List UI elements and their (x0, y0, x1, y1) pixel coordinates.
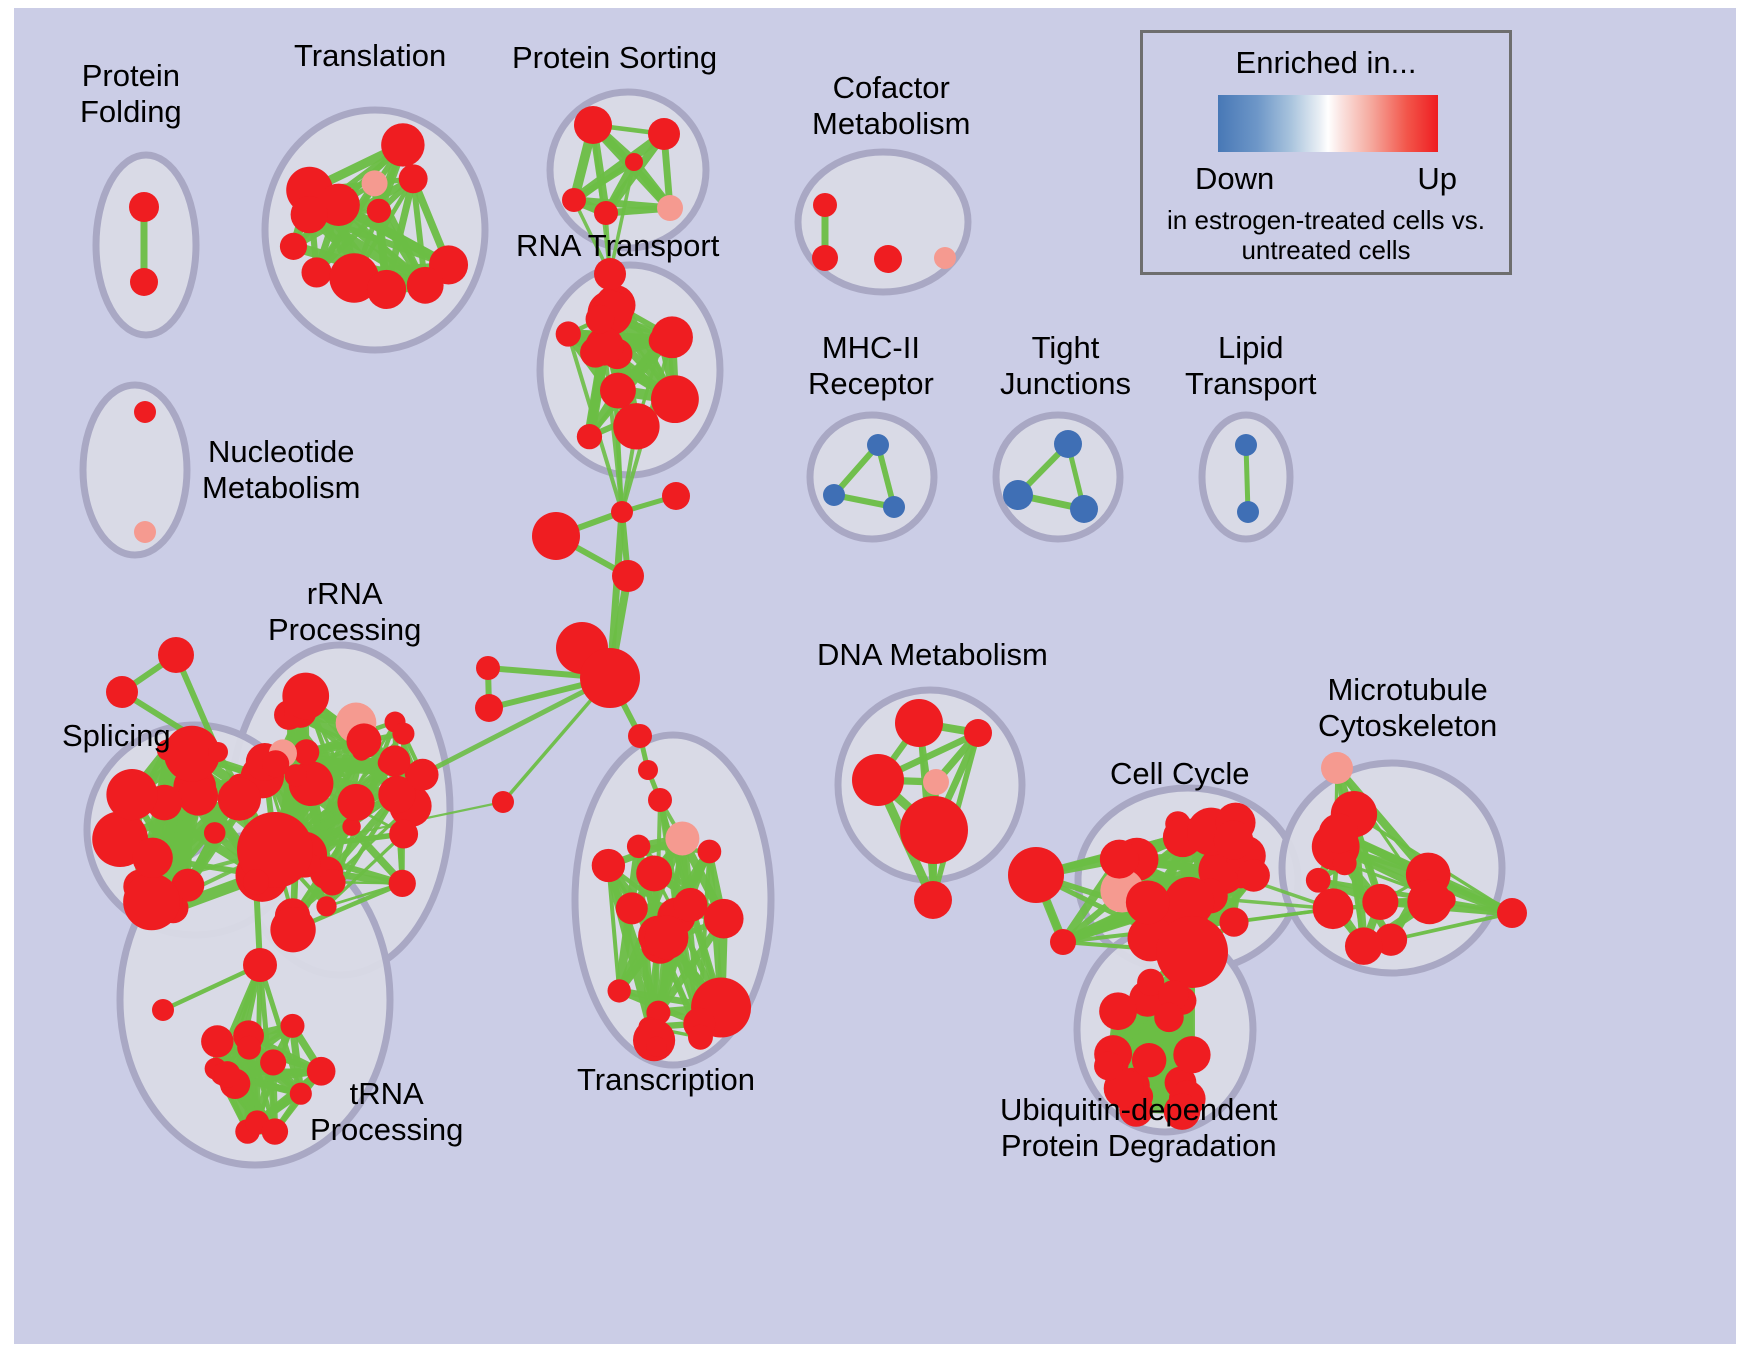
cluster-label-rrna-processing: rRNA Processing (268, 576, 421, 648)
cluster-label-microtubule-cytoskeleton: Microtubule Cytoskeleton (1318, 672, 1497, 744)
network-node (580, 648, 640, 708)
network-node (852, 754, 904, 806)
network-node (627, 835, 650, 858)
network-node (262, 1118, 288, 1144)
network-node (883, 496, 905, 518)
network-node (367, 270, 406, 309)
network-node (1094, 1052, 1123, 1081)
network-node (638, 760, 658, 780)
network-node (290, 1083, 312, 1105)
network-node (562, 188, 586, 212)
network-node (611, 501, 633, 523)
cluster-label-protein-folding: Protein Folding (80, 58, 182, 130)
network-node (1126, 881, 1170, 925)
network-node (293, 739, 319, 765)
network-node (923, 769, 949, 795)
network-node (1235, 434, 1257, 456)
network-node (270, 907, 315, 952)
network-node (214, 1061, 241, 1088)
network-node (1173, 1036, 1210, 1073)
network-node (1237, 501, 1259, 523)
network-node (362, 170, 388, 196)
network-node (130, 268, 158, 296)
network-node (1321, 752, 1353, 784)
network-node (532, 512, 580, 560)
legend-high-label: Up (1417, 161, 1457, 197)
network-node (1070, 495, 1098, 523)
network-node (688, 1025, 713, 1050)
network-node (260, 1049, 286, 1075)
network-node (592, 849, 625, 882)
network-node (648, 788, 672, 812)
network-node (812, 245, 838, 271)
network-node (1497, 898, 1527, 928)
network-node (280, 1014, 304, 1038)
network-node (134, 401, 156, 423)
network-node (134, 521, 156, 543)
network-node (934, 247, 956, 269)
network-node (237, 1036, 261, 1060)
cluster-label-cofactor-metabolism: Cofactor Metabolism (812, 70, 971, 142)
network-node (651, 375, 699, 423)
network-node (1099, 992, 1137, 1030)
legend-box: Enriched in... Down Up in estrogen-treat… (1140, 30, 1512, 275)
network-node (646, 1037, 666, 1057)
network-node (291, 196, 328, 233)
network-node (657, 195, 683, 221)
network-node (895, 699, 943, 747)
network-node (616, 892, 648, 924)
network-node (381, 123, 424, 166)
network-node (1050, 929, 1076, 955)
network-node (704, 899, 744, 939)
network-node (577, 424, 602, 449)
network-node (129, 192, 159, 222)
network-node (1313, 888, 1354, 929)
network-node (1156, 916, 1228, 988)
network-node (1333, 851, 1357, 875)
network-node (613, 403, 659, 449)
network-node (337, 784, 374, 821)
legend-caption: in estrogen-treated cells vs. untreated … (1143, 205, 1509, 265)
network-node (1154, 1003, 1183, 1032)
cluster-label-transcription: Transcription (577, 1062, 755, 1098)
network-node (914, 881, 952, 919)
network-node (585, 327, 624, 366)
network-node (900, 796, 968, 864)
network-node (389, 820, 418, 849)
network-node (1306, 868, 1331, 893)
network-node (389, 870, 416, 897)
network-node (600, 373, 636, 409)
network-node (1362, 884, 1398, 920)
network-node (1054, 430, 1082, 458)
network-node (476, 656, 500, 680)
network-node (651, 316, 693, 358)
network-node (813, 193, 837, 217)
network-node (106, 676, 138, 708)
network-node (280, 233, 307, 260)
cluster-label-ubiquitin-protein-degradation: Ubiquitin-dependent Protein Degradation (1000, 1092, 1278, 1164)
network-node (367, 199, 391, 223)
network-node (665, 821, 699, 855)
network-node (1345, 927, 1382, 964)
cluster-label-lipid-transport: Lipid Transport (1185, 330, 1317, 402)
legend-color-bar (1218, 95, 1438, 152)
cluster-label-rna-transport: RNA Transport (516, 228, 719, 264)
network-node (1100, 840, 1139, 879)
network-node (379, 745, 410, 776)
network-node (1407, 880, 1452, 925)
network-node (282, 673, 329, 720)
network-node (874, 245, 902, 273)
network-node (243, 869, 269, 895)
cluster-label-dna-metabolism: DNA Metabolism (817, 637, 1048, 673)
network-node (636, 855, 672, 891)
network-node (218, 777, 261, 820)
cluster-hull (996, 415, 1120, 539)
network-node (1003, 480, 1033, 510)
network-node (132, 838, 172, 878)
legend-low-label: Down (1195, 161, 1274, 197)
network-node (612, 560, 644, 592)
legend-title: Enriched in... (1143, 45, 1509, 81)
network-node (399, 164, 428, 193)
network-node (574, 106, 612, 144)
network-node (301, 257, 331, 287)
network-node (208, 742, 228, 762)
network-node (673, 888, 707, 922)
cluster-label-tight-junctions: Tight Junctions (1000, 330, 1131, 402)
network-node (316, 896, 336, 916)
network-node (158, 637, 194, 673)
network-node (243, 948, 277, 982)
figure-canvas: Protein FoldingTranslationProtein Sortin… (0, 0, 1750, 1360)
network-node (964, 719, 992, 747)
cluster-label-cell-cycle: Cell Cycle (1110, 756, 1250, 792)
network-node (152, 999, 174, 1021)
network-node (319, 869, 345, 895)
network-node (1214, 820, 1253, 859)
cluster-hull (810, 415, 934, 539)
cluster-label-splicing: Splicing (62, 718, 171, 754)
network-node (475, 694, 503, 722)
network-node (204, 822, 226, 844)
network-node (586, 305, 615, 334)
network-node (1132, 1043, 1166, 1077)
network-node (648, 118, 680, 150)
network-node (106, 769, 157, 820)
network-node (262, 750, 289, 777)
network-node (867, 434, 889, 456)
network-node (407, 267, 444, 304)
network-node (628, 724, 652, 748)
network-node (594, 201, 618, 225)
cluster-label-nucleotide-metabolism: Nucleotide Metabolism (202, 434, 361, 506)
network-node (123, 873, 180, 930)
network-node (392, 723, 414, 745)
network-node (556, 321, 581, 346)
network-node (1237, 859, 1270, 892)
network-node (608, 979, 631, 1002)
cluster-label-trna-processing: tRNA Processing (310, 1076, 463, 1148)
network-node (625, 153, 643, 171)
network-node (823, 484, 845, 506)
network-node (1319, 814, 1359, 854)
cluster-label-mhc-ii-receptor: MHC-II Receptor (808, 330, 934, 402)
cluster-label-protein-sorting: Protein Sorting (512, 40, 717, 76)
network-node (178, 776, 218, 816)
network-node (407, 759, 439, 791)
network-node (1008, 847, 1064, 903)
network-node (662, 482, 690, 510)
network-node (492, 791, 514, 813)
network-node (346, 723, 381, 758)
network-node (1219, 908, 1248, 937)
network-node (645, 916, 689, 960)
cluster-label-translation: Translation (294, 38, 446, 74)
network-node (697, 840, 721, 864)
network-node (201, 1025, 233, 1057)
